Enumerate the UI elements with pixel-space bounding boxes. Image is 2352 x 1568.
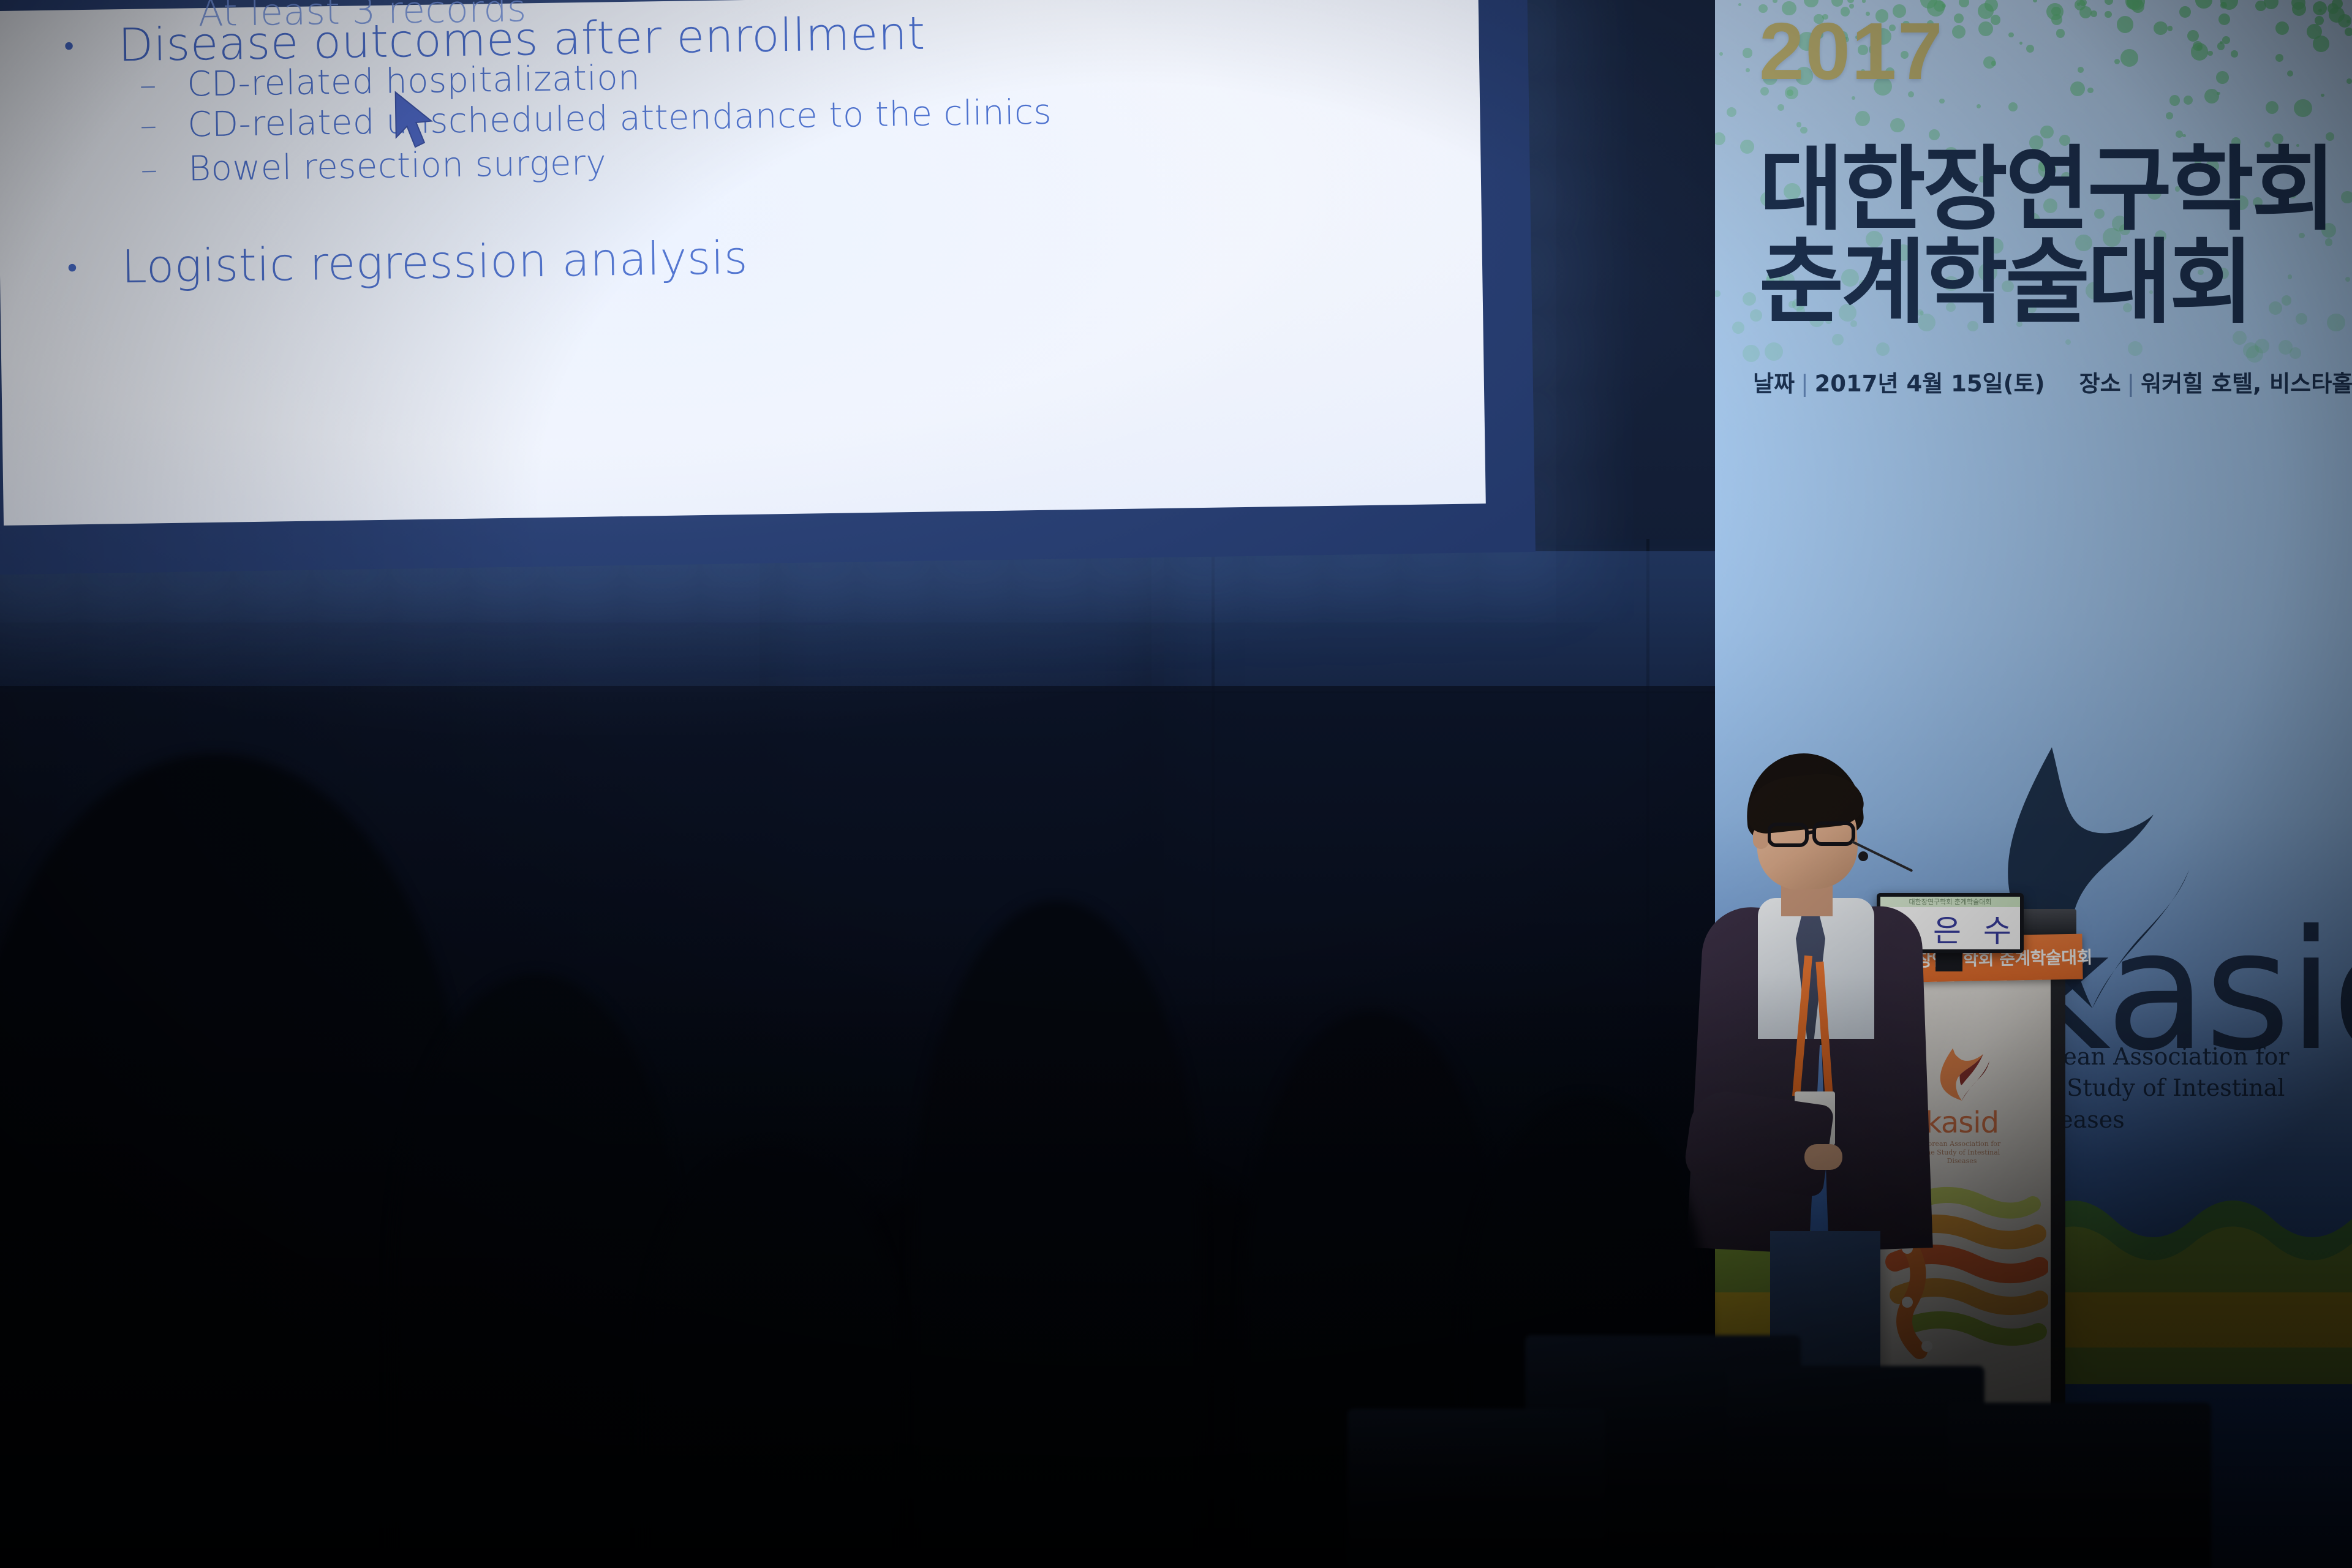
banner-year: 2017 <box>1759 5 1944 97</box>
banner-separator-1: | <box>1795 371 1814 397</box>
projection-screen-surface: At least 3 records • Disease outcomes af… <box>0 0 1486 526</box>
chair-back-4 <box>1347 1409 1605 1568</box>
banner-title-line-2: 춘계학술대회 <box>1759 208 2252 341</box>
podium-frame-right <box>2051 919 2065 1482</box>
slide-bullet-2: • Logistic regression analysis <box>67 232 748 294</box>
dash-marker-2: – <box>140 105 188 146</box>
bullet-marker-2: • <box>67 251 77 284</box>
backdrop-tagline-line-1: Korean Association for <box>2021 1041 2352 1072</box>
bullet-marker-1: • <box>64 29 74 62</box>
banner-date-label: 날짜 <box>1753 371 1795 397</box>
banner-meta-line: 날짜|2017년 4월 15일(토)장소|워커힐 호텔, 비스타홀 <box>1753 365 2352 398</box>
wall-upper-band <box>0 551 1813 692</box>
monitor-stand <box>1936 951 1962 971</box>
audience-silhouette-6 <box>643 1145 900 1568</box>
audience-silhouette-3 <box>913 900 1200 1568</box>
presentation-slide: At least 3 records • Disease outcomes af… <box>0 0 1486 526</box>
audience-silhouette-2 <box>392 974 680 1568</box>
backdrop-tagline: Korean Association for the Study of Inte… <box>2021 1041 2352 1136</box>
speaker-hand <box>1804 1144 1842 1170</box>
chair-back-2 <box>1727 1366 1985 1568</box>
kasid-logo-icon <box>1934 1045 1990 1101</box>
eyeglasses-icon <box>1768 821 1860 848</box>
speaker-arm <box>1683 1087 1835 1198</box>
banner-separator-2: | <box>2121 371 2141 397</box>
projection-screen-frame: At least 3 records • Disease outcomes af… <box>0 0 1536 575</box>
backdrop-tagline-line-2: the Study of Intestinal Diseases <box>2021 1072 2352 1136</box>
dash-marker-1: – <box>139 65 187 105</box>
banner-venue-label: 장소 <box>2079 371 2121 397</box>
dash-marker-3: – <box>140 149 189 190</box>
slide-subbullet-1: –CD-related hospitalization <box>139 58 641 105</box>
headset-mic-capsule <box>1858 851 1868 861</box>
chair-back-3 <box>1948 1403 2211 1568</box>
slide-subbullet-3: –Bowel resection surgery <box>140 143 607 189</box>
speaker-person <box>1678 753 1936 1366</box>
slide-bullet-2-text: Logistic regression analysis <box>121 232 748 293</box>
banner-date-value: 2017년 4월 15일(토) <box>1815 371 2045 397</box>
banner-venue-value: 워커힐 호텔, 비스타홀 <box>2141 371 2352 397</box>
conference-presentation-photo: At least 3 records • Disease outcomes af… <box>0 0 2352 1568</box>
